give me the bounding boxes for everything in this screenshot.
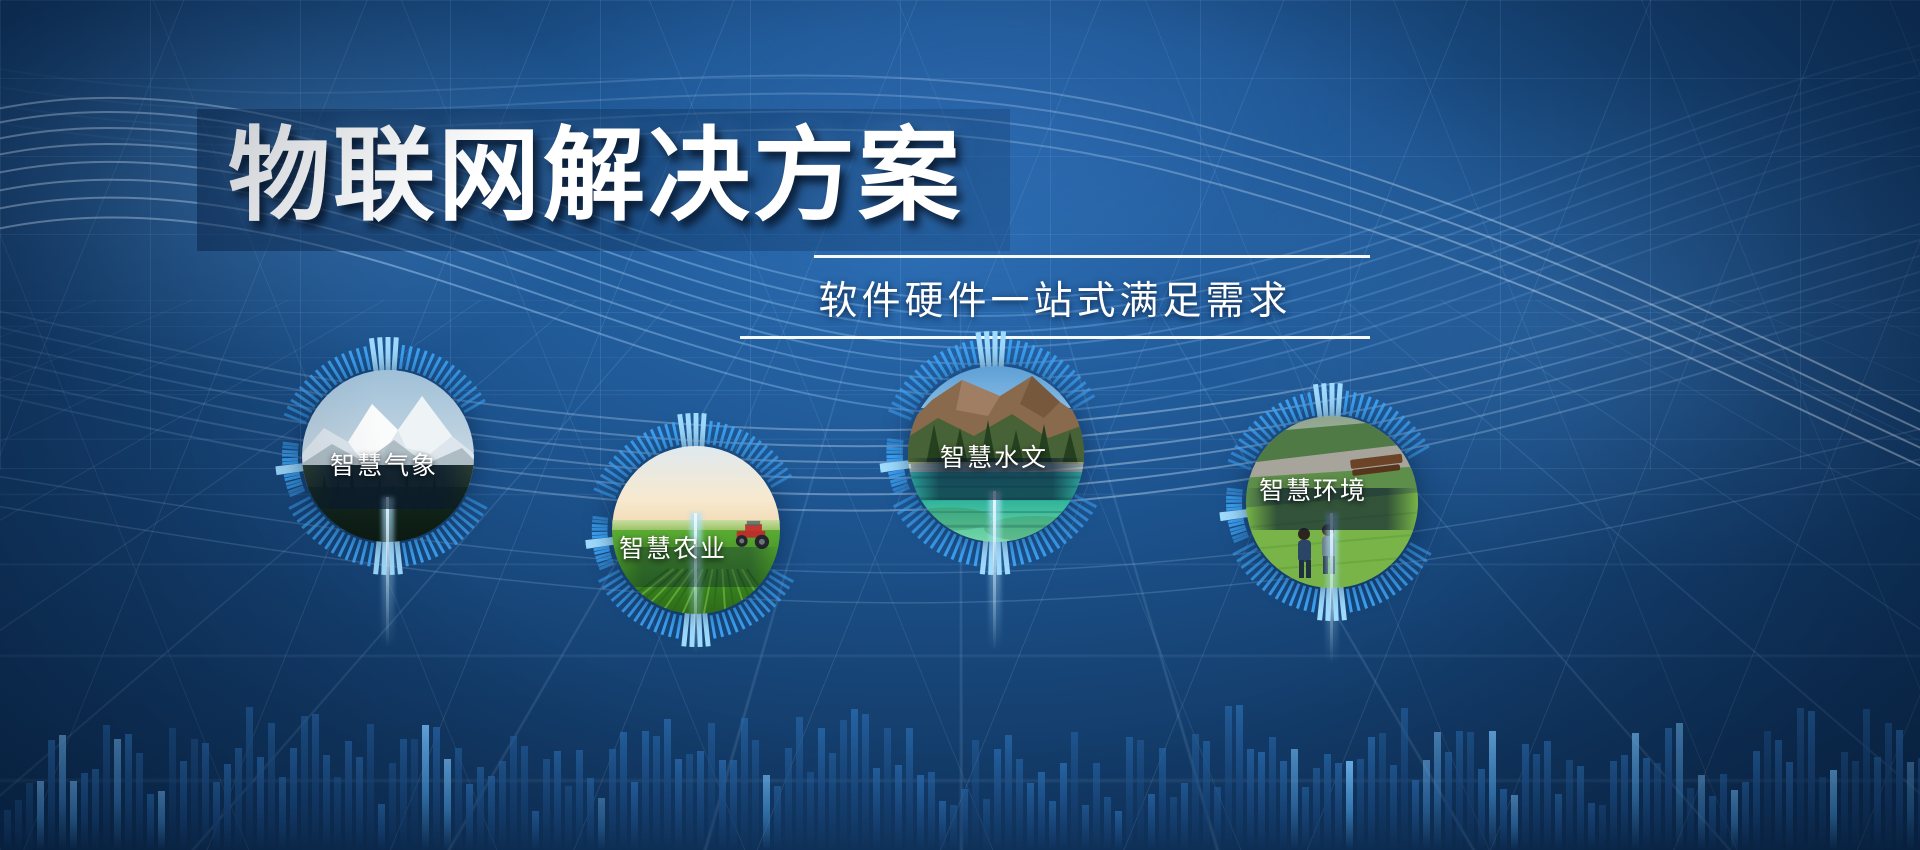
node-label-environment: 智慧环境 — [1259, 471, 1367, 507]
node-label-agriculture: 智慧农业 — [619, 529, 727, 565]
iot-solution-banner: 物联网解决方案 软件硬件一站式满足需求 — [0, 0, 1920, 850]
node-label-hydrology: 智慧水文 — [940, 438, 1048, 474]
node-label-weather: 智慧气象 — [330, 446, 438, 482]
vignette-overlay — [0, 0, 1920, 850]
